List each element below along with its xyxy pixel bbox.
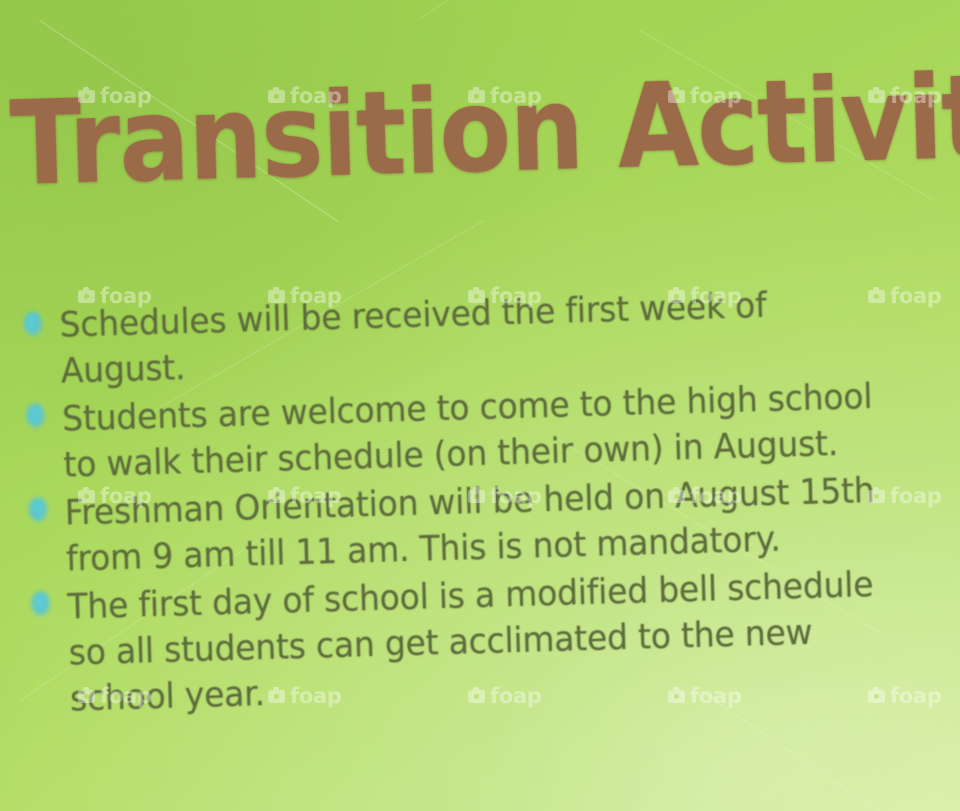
slide-title: Transition Activities: [9, 63, 849, 205]
bullet-list: Schedules will be received the first wee…: [0, 278, 960, 725]
list-item: The first day of school is a modified be…: [5, 559, 960, 724]
bullet-dot-icon: [26, 403, 46, 429]
bullet-dot-icon: [23, 311, 43, 337]
bullet-dot-icon: [28, 497, 48, 523]
bullet-dot-icon: [31, 591, 51, 617]
slide-content: Transition Activities Schedules will be …: [0, 0, 960, 811]
bullet-text: The first day of school is a modified be…: [67, 561, 911, 722]
slide-photo: Transition Activities Schedules will be …: [0, 0, 960, 811]
